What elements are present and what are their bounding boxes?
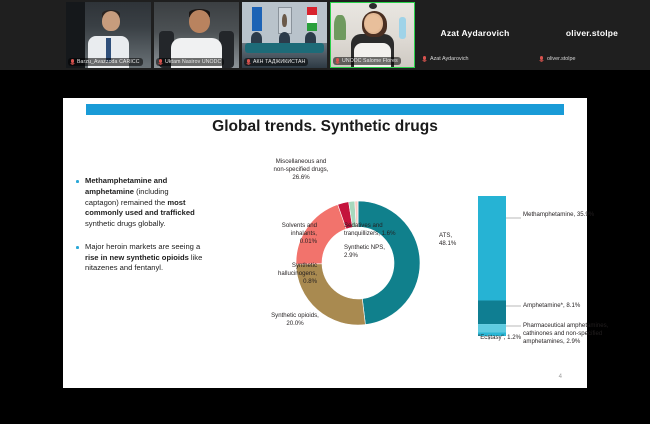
slide-accent-bar [86,104,564,115]
video-tile-participant-2[interactable]: Uktam Nasirov UNODC [154,2,239,68]
slide-page-number: 4 [559,374,562,380]
video-tile-participant-3[interactable]: АКН ТАДЖИКИСТАН [242,2,327,68]
participant-nameplate: Uktam Nasirov UNODC [156,58,224,66]
participant-name: oliver.stolpe [547,56,575,62]
label-ats: ATS,48.1% [439,232,485,248]
bullet-point-icon [76,180,79,183]
bar-segment-pharmaceutical-amphetamines-cathinones-and-non-specified-amphetamines [478,324,506,332]
participant-name: АКН ТАДЖИКИСТАН [253,59,305,65]
participant-nameplate: Azat Aydarovich [422,56,469,62]
bar-segment-methamphetamine [478,196,506,300]
label-pharmaceutical-amphetamines: Pharmaceutical amphetamines,cathinones a… [523,322,649,346]
muted-microphone-icon [335,58,340,64]
participant-name: Uktam Nasirov UNODC [165,59,221,65]
label-ecstasy: "Ecstasy", 1.2% [455,334,521,342]
label-miscellaneous: Miscellaneous andnon-specified drugs,26.… [253,158,349,182]
video-tile-participant-6[interactable]: oliver.stolpe oliver.stolpe [535,2,649,68]
label-amphetamine: Amphetamine*, 8.1% [523,302,643,310]
participant-nameplate: АКН ТАДЖИКИСТАН [244,58,308,66]
participant-nameplate: oliver.stolpe [539,56,575,62]
synthetic-drugs-chart: Miscellaneous andnon-specified drugs,26.… [203,156,579,371]
participant-name: Azat Aydarovich [430,56,469,62]
participant-nameplate: Barzu_Avazzoda CARICC [68,58,143,66]
participant-display-name: oliver.stolpe [535,28,649,38]
zoom-video-strip: Barzu_Avazzoda CARICC Uktam Nasirov UNOD… [0,0,650,70]
label-methamphetamine: Methamphetamine, 35.9% [523,211,643,219]
bullet-text: Methamphetamine and amphetamine (includi… [85,176,195,228]
muted-microphone-icon [422,56,427,62]
muted-microphone-icon [158,59,163,65]
video-tile-participant-5[interactable]: Azat Aydarovich Azat Aydarovich [418,2,532,68]
participant-name: Barzu_Avazzoda CARICC [77,59,140,65]
slide-bullet-list: Methamphetamine and amphetamine (includi… [75,176,203,286]
participant-nameplate: UNODC Salome Flores [333,57,401,65]
slide-title: Global trends. Synthetic drugs [63,118,587,136]
shared-presentation-slide[interactable]: Global trends. Synthetic drugs Methamphe… [63,98,587,388]
muted-microphone-icon [70,59,75,65]
muted-microphone-icon [539,56,544,62]
label-solvents-inhalants: Solvents andinhalants,0.01% [245,222,317,246]
participant-display-name: Azat Aydarovich [418,28,532,38]
video-tile-participant-4-active-speaker[interactable]: UNODC Salome Flores [330,2,415,68]
bar-segment-amphetamine [478,300,506,324]
bullet-text: Major heroin markets are seeing a rise i… [85,242,202,273]
bullet-item-1: Methamphetamine and amphetamine (includi… [75,176,203,230]
participant-name: UNODC Salome Flores [342,58,398,64]
label-sedatives-tranquillizers: Sedatives andtranquillizers, 1.6% [344,222,420,238]
bullet-item-2: Major heroin markets are seeing a rise i… [75,242,203,274]
bullet-point-icon [76,246,79,249]
label-synthetic-hallucinogens: Synthetichallucinogens,0.8% [239,262,317,286]
label-synthetic-nps: Synthetic NPS,2.9% [344,244,414,260]
label-synthetic-opioids: Synthetic opioids,20.0% [247,312,343,328]
video-tile-participant-1[interactable]: Barzu_Avazzoda CARICC [66,2,151,68]
ats-breakout-stacked-bar [478,196,506,336]
donut-slice-ats [358,201,420,325]
muted-microphone-icon [246,59,251,65]
